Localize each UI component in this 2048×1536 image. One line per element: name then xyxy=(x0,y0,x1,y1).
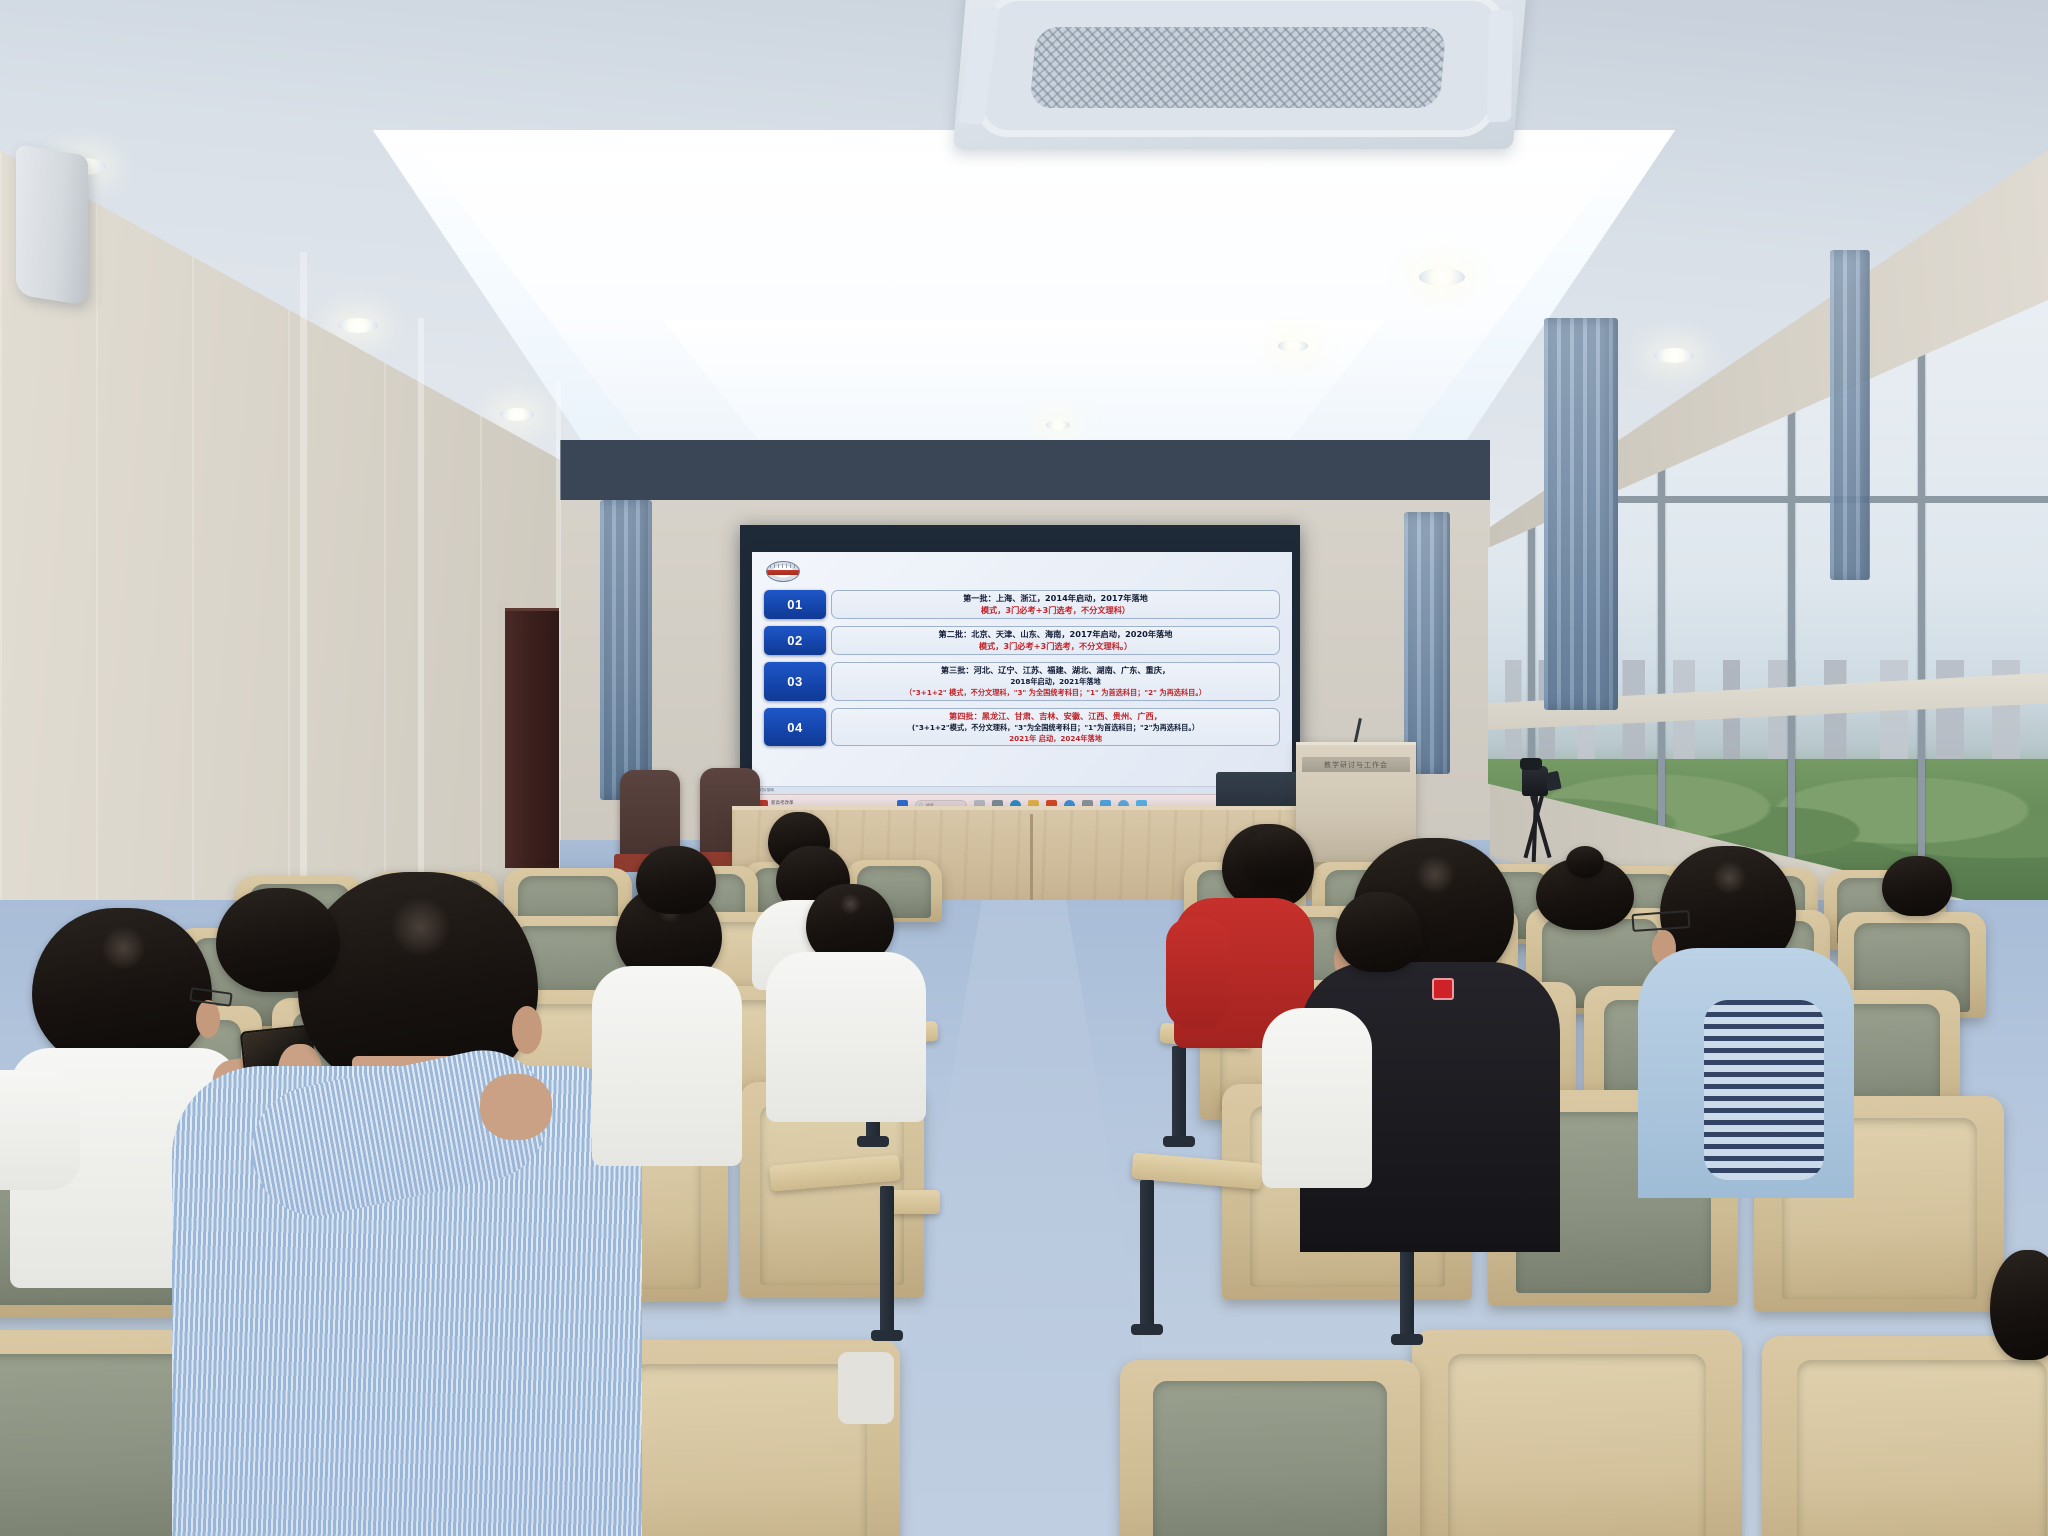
door[interactable] xyxy=(505,608,559,868)
hand xyxy=(480,1074,552,1140)
head xyxy=(32,908,212,1068)
slide-row-body: 第一批：上海、浙江，2014年启动，2017年落地 模式，3门必考+3门选考，不… xyxy=(831,590,1280,619)
slide-row-line1: 第三批：河北、辽宁、江苏、福建、湖北、湖南、广东、重庆， xyxy=(941,665,1170,676)
wall-pilaster xyxy=(300,252,307,892)
torso xyxy=(0,1070,80,1190)
ear xyxy=(196,1000,220,1038)
downlight-icon xyxy=(1419,268,1465,286)
slide-row: 02 第二批：北京、天津、山东、海南，2017年启动，2020年落地 模式，3门… xyxy=(764,626,1280,655)
slide-row-body: 第三批：河北、辽宁、江苏、福建、湖北、湖南、广东、重庆， 2018年启动，202… xyxy=(831,662,1280,701)
slide-rows: 01 第一批：上海、浙江，2014年启动，2017年落地 模式，3门必考+3门选… xyxy=(764,590,1280,753)
head xyxy=(1336,892,1422,972)
ac-vane-right xyxy=(1487,9,1513,122)
ear xyxy=(512,1006,542,1054)
ac-grille xyxy=(1029,27,1446,108)
slide-row-line2: 模式，3门必考+3门选考，不分文理科） xyxy=(981,605,1130,616)
slide-row: 03 第三批：河北、辽宁、江苏、福建、湖北、湖南、广东、重庆， 2018年启动，… xyxy=(764,662,1280,701)
head xyxy=(1882,856,1952,916)
curtain-right-b xyxy=(1830,250,1870,580)
university-emblem-icon xyxy=(766,561,800,582)
slide-row-body: 第四批：黑龙江、甘肃、吉林、安徽、江西、贵州、广西， ("3+1+2"模式，不分… xyxy=(831,708,1280,747)
seat[interactable] xyxy=(1762,1336,2048,1536)
presentation-status-bar: 幻灯片放映 xyxy=(752,786,1292,794)
curtain-stage-left xyxy=(600,500,652,800)
shirt-logo-patch xyxy=(1432,978,1454,1000)
camera-body xyxy=(1522,766,1548,796)
seat[interactable] xyxy=(1120,1360,1420,1536)
downlight-icon xyxy=(500,408,534,421)
slide-row-line2: 2018年启动，2021年落地 xyxy=(1010,677,1100,687)
torso xyxy=(592,966,742,1166)
wall-speaker-icon xyxy=(16,144,88,305)
slide-row-line3: （"3+1+2" 模式，不分文理科，"3" 为全国统考科目；"1" 为首选科目；… xyxy=(905,688,1206,698)
head xyxy=(216,888,340,992)
slide-row-line1: 第二批：北京、天津、山东、海南，2017年启动，2020年落地 xyxy=(939,629,1173,640)
lecture-hall-scene: 01 第一批：上海、浙江，2014年启动，2017年落地 模式，3门必考+3门选… xyxy=(0,0,2048,1536)
slide-row: 04 第四批：黑龙江、甘肃、吉林、安徽、江西、贵州、广西， ("3+1+2"模式… xyxy=(764,708,1280,747)
lectern-sign: 教学研讨与工作会 xyxy=(1302,757,1410,772)
window-mullion xyxy=(1918,300,1925,920)
slide-row-line3: 2021年 启动，2024年落地 xyxy=(1009,734,1102,744)
seat-leg xyxy=(880,1186,894,1336)
slide-row-number: 01 xyxy=(764,590,826,619)
presentation-slide: 01 第一批：上海、浙江，2014年启动，2017年落地 模式，3门必考+3门选… xyxy=(752,552,1292,816)
torso xyxy=(766,952,926,1122)
torso xyxy=(1262,1008,1372,1188)
curtain-stage-right xyxy=(1404,512,1450,774)
arm xyxy=(1166,918,1230,1028)
downlight-icon xyxy=(1654,348,1694,363)
head xyxy=(1244,828,1310,884)
slide-row-line2: ("3+1+2"模式，不分文理科，"3"为全国统考科目；"1"为首选科目；"2"… xyxy=(912,723,1199,733)
hair-bun xyxy=(1566,846,1604,878)
curtain-right-a xyxy=(1544,318,1618,710)
slide-row-number: 04 xyxy=(764,708,826,747)
stage-chair[interactable] xyxy=(620,770,680,858)
taskbar-app-label-1: 新高考改革 xyxy=(771,800,794,805)
slide-row-number: 03 xyxy=(764,662,826,701)
air-conditioner-icon xyxy=(953,0,1527,149)
slide-row-number: 02 xyxy=(764,626,826,655)
downlight-icon xyxy=(338,318,378,333)
slide-row-line2: 模式，3门必考+3门选考，不分文理科。） xyxy=(979,641,1132,652)
downlight-icon xyxy=(1278,340,1308,352)
slide-row-line1: 第一批：上海、浙江，2014年启动，2017年落地 xyxy=(963,593,1148,604)
slide-row: 01 第一批：上海、浙江，2014年启动，2017年落地 模式，3门必考+3门选… xyxy=(764,590,1280,619)
downlight-icon xyxy=(1046,420,1070,430)
slide-row-body: 第二批：北京、天津、山东、海南，2017年启动，2020年落地 模式，3门必考+… xyxy=(831,626,1280,655)
ac-frame xyxy=(974,0,1507,137)
wall-back-upper-band xyxy=(560,440,1490,500)
seat-leg xyxy=(1140,1180,1154,1330)
striped-shirt-section xyxy=(1704,1000,1824,1180)
head xyxy=(636,846,716,914)
seat[interactable] xyxy=(1412,1330,1742,1536)
slide-row-line1: 第四批：黑龙江、甘肃、吉林、安徽、江西、贵州、广西， xyxy=(949,711,1162,722)
camera-head xyxy=(1520,758,1542,770)
shoe xyxy=(838,1352,894,1424)
wall-pilaster xyxy=(418,318,424,878)
projection-screen[interactable]: 01 第一批：上海、浙江，2014年启动，2017年落地 模式，3门必考+3门选… xyxy=(752,552,1292,816)
seat-leg xyxy=(1172,1046,1186,1142)
